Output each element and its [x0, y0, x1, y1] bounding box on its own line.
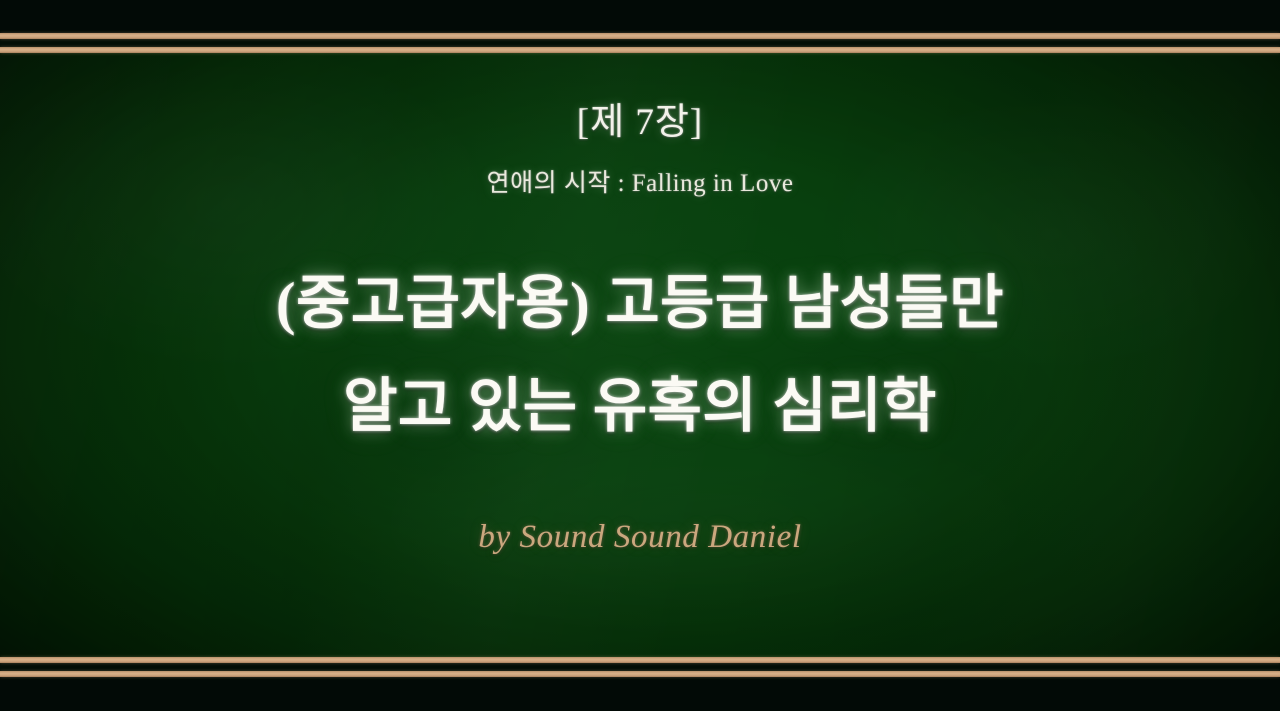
decorative-rule-top-outer	[0, 33, 1280, 39]
decorative-rule-bottom-outer	[0, 671, 1280, 677]
chalkboard-title-slide: [제 7장] 연애의 시작 : Falling in Love (중고급자용) …	[0, 0, 1280, 711]
main-title-line-1: (중고급자용) 고등급 남성들만	[276, 252, 1004, 354]
author-byline: by Sound Sound Daniel	[478, 519, 801, 556]
rule-gap-bottom	[0, 663, 1280, 671]
chapter-tag: [제 7장]	[577, 103, 703, 143]
main-title-line-2: 알고 있는 유혹의 심리학	[276, 355, 1004, 457]
slide-main-title: (중고급자용) 고등급 남성들만 알고 있는 유혹의 심리학	[276, 252, 1004, 456]
slide-content: [제 7장] 연애의 시작 : Falling in Love (중고급자용) …	[0, 53, 1280, 658]
slide-subtitle: 연애의 시작 : Falling in Love	[487, 170, 794, 198]
letterbox-bottom	[0, 677, 1280, 711]
letterbox-top	[0, 0, 1280, 33]
decorative-rule-bottom-inner	[0, 657, 1280, 663]
rule-gap-top	[0, 39, 1280, 47]
decorative-rule-top-inner	[0, 47, 1280, 53]
